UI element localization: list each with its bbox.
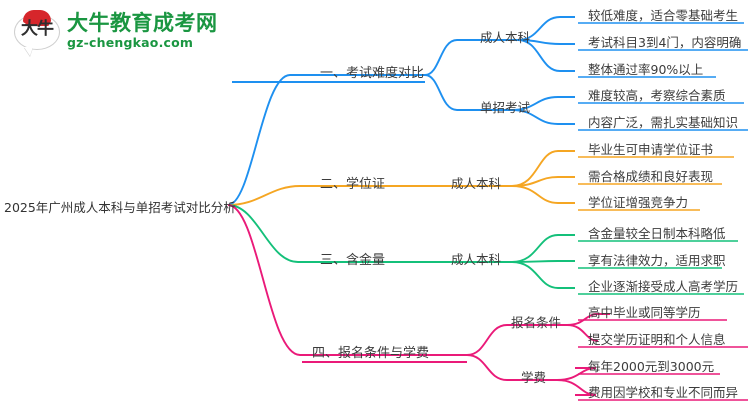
- subnode-3-1[interactable]: 成人本科: [451, 249, 501, 268]
- leaf-node[interactable]: 享有法律效力，适用求职: [588, 250, 726, 269]
- leaf-node[interactable]: 费用因学校和专业不同而异: [588, 382, 738, 401]
- leaf-node[interactable]: 学位证增强竞争力: [588, 192, 688, 211]
- subnode-4-2[interactable]: 学费: [521, 367, 546, 386]
- leaf-node[interactable]: 需合格成绩和良好表现: [588, 166, 713, 185]
- leaf-node[interactable]: 较低难度，适合零基础考生: [588, 5, 738, 24]
- logo-mark-icon: 大牛: [14, 10, 60, 52]
- leaf-node[interactable]: 内容广泛，需扎实基础知识: [588, 112, 738, 131]
- branch-node-2[interactable]: 二、学位证: [320, 173, 385, 192]
- logo-mark-text: 大牛: [18, 20, 56, 38]
- mindmap-root-node[interactable]: 2025年广州成人本科与单招考试对比分析: [4, 197, 236, 216]
- leaf-node[interactable]: 企业逐渐接受成人高考学历: [588, 276, 738, 295]
- logo-title: 大牛教育成考网: [67, 12, 218, 35]
- subnode-1-1[interactable]: 成人本科: [480, 27, 530, 46]
- leaf-node[interactable]: 每年2000元到3000元: [588, 356, 714, 375]
- branch-node-4[interactable]: 四、报名条件与学费: [312, 342, 429, 361]
- logo-subtitle: gz-chengkao.com: [67, 36, 218, 50]
- leaf-node[interactable]: 提交学历证明和个人信息: [588, 329, 726, 348]
- logo-text-block: 大牛教育成考网 gz-chengkao.com: [67, 12, 218, 50]
- leaf-node[interactable]: 难度较高，考察综合素质: [588, 85, 726, 104]
- branch-node-3[interactable]: 三、含金量: [320, 249, 385, 268]
- subnode-4-1[interactable]: 报名条件: [511, 312, 561, 331]
- leaf-node[interactable]: 含金量较全日制本科略低: [588, 223, 726, 242]
- leaf-node[interactable]: 整体通过率90%以上: [588, 59, 703, 78]
- mindmap-canvas: 大牛 大牛教育成考网 gz-chengkao.com: [0, 0, 750, 410]
- leaf-node[interactable]: 考试科目3到4门，内容明确: [588, 32, 741, 51]
- branch-node-1[interactable]: 一、考试难度对比: [320, 62, 424, 81]
- leaf-node[interactable]: 毕业生可申请学位证书: [588, 139, 713, 158]
- site-logo[interactable]: 大牛 大牛教育成考网 gz-chengkao.com: [14, 10, 218, 52]
- subnode-1-2[interactable]: 单招考试: [480, 97, 530, 116]
- leaf-node[interactable]: 高中毕业或同等学历: [588, 302, 701, 321]
- subnode-2-1[interactable]: 成人本科: [451, 173, 501, 192]
